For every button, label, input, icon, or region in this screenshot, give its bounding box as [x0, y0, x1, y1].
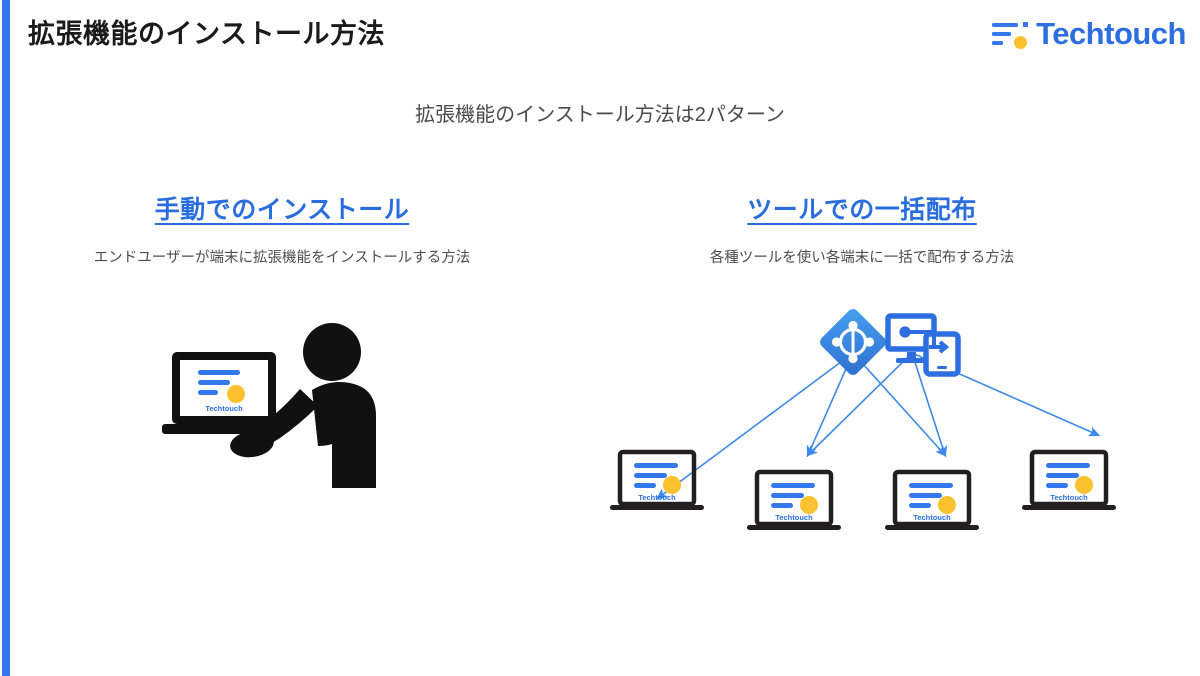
tool-distribution-description: 各種ツールを使い各端末に一括で配布する方法: [612, 246, 1112, 267]
svg-text:Techtouch: Techtouch: [1050, 493, 1088, 502]
target-laptop-3: Techtouch: [885, 472, 979, 530]
target-laptop-4: Techtouch: [1022, 452, 1116, 510]
svg-text:Techtouch: Techtouch: [205, 404, 243, 413]
logo-wordmark: Techtouch: [1036, 16, 1186, 52]
tool-distribution-diagram: Techtouch Techtouch Techtouch: [600, 280, 1160, 540]
target-laptop-2: Techtouch: [747, 472, 841, 530]
svg-text:Techtouch: Techtouch: [913, 513, 951, 522]
slide-subtitle: 拡張機能のインストール方法は2パターン: [0, 98, 1200, 127]
person-installing-on-laptop-illustration: Techtouch: [160, 310, 420, 510]
techtouch-logo-mark-icon: [992, 18, 1028, 50]
manual-install-description: エンドユーザーが端末に拡張機能をインストールする方法: [32, 246, 532, 267]
column-manual-install: 手動でのインストール エンドユーザーが端末に拡張機能をインストールする方法: [32, 190, 532, 267]
manual-install-heading[interactable]: 手動でのインストール: [32, 190, 532, 226]
column-tool-distribution: ツールでの一括配布 各種ツールを使い各端末に一括で配布する方法: [612, 190, 1112, 267]
svg-text:Techtouch: Techtouch: [775, 513, 813, 522]
azure-ad-icon: [818, 307, 889, 378]
target-laptop-1: Techtouch: [610, 452, 704, 510]
tool-distribution-heading[interactable]: ツールでの一括配布: [612, 190, 1112, 226]
slide-canvas: 拡張機能のインストール方法 Techtouch 拡張機能のインストール方法は2パ…: [0, 0, 1200, 676]
svg-text:Techtouch: Techtouch: [638, 493, 676, 502]
page-title: 拡張機能のインストール方法: [28, 12, 385, 51]
techtouch-logo: Techtouch: [992, 16, 1186, 52]
